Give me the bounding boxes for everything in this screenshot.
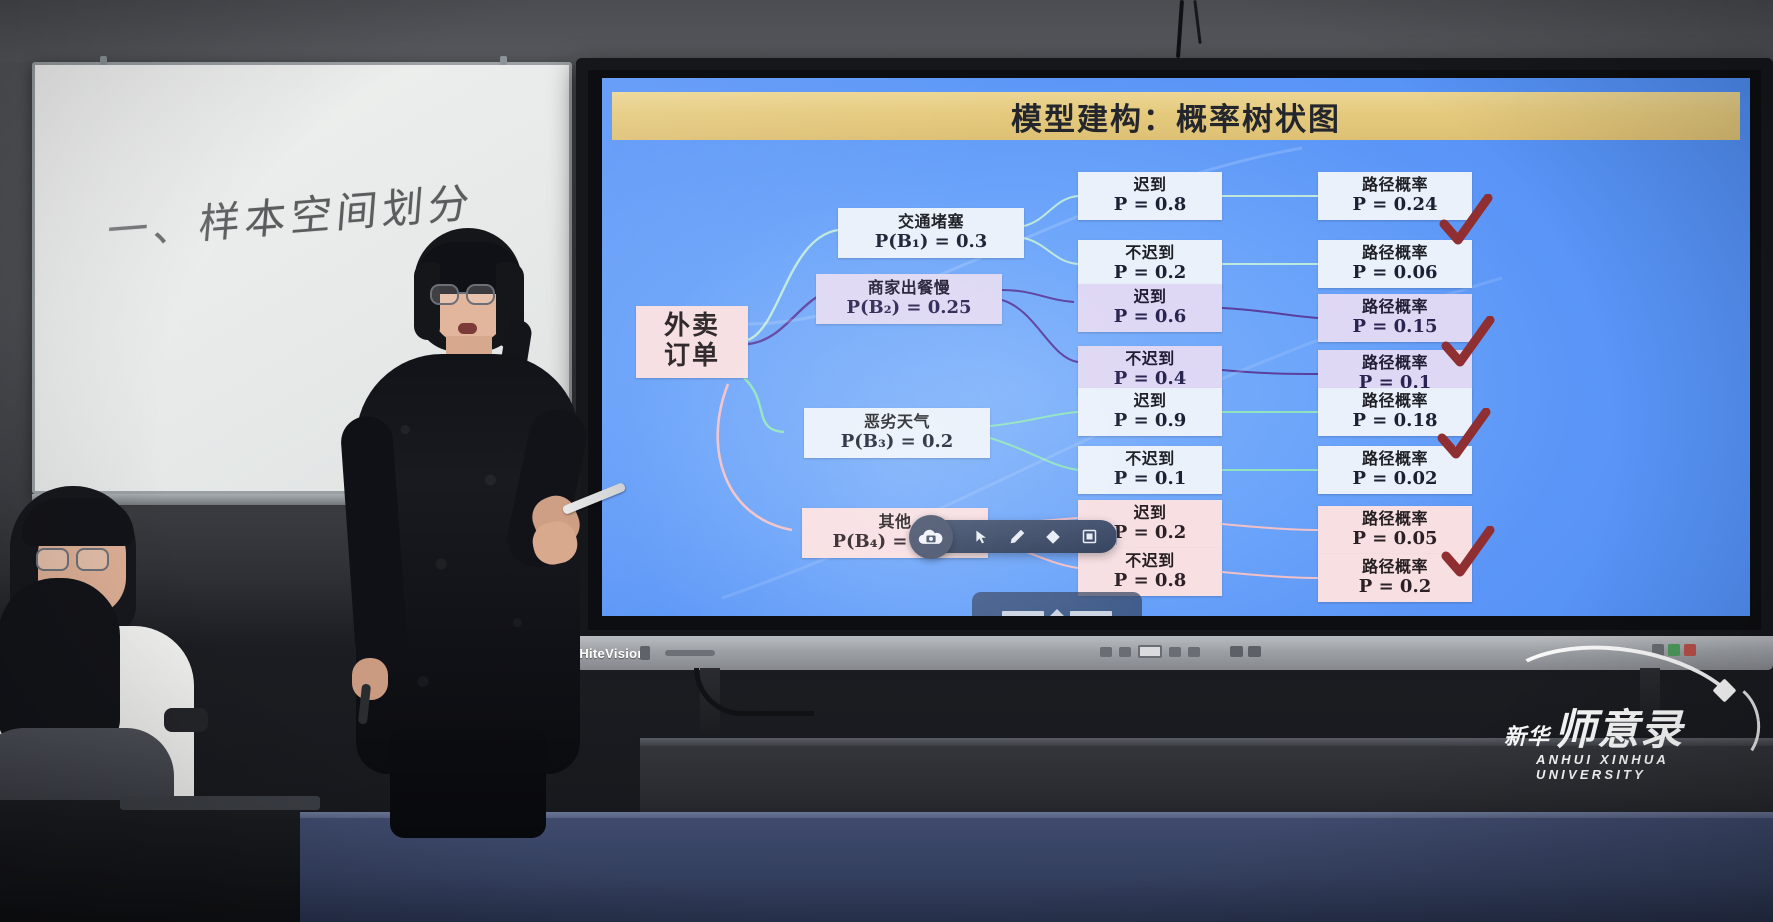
outcome-7-label: 迟到	[1133, 504, 1166, 522]
capture-icon[interactable]	[909, 515, 953, 559]
watermark-logo: 新华师意录 ANHUI XINHUA UNIVERSITY	[1494, 648, 1756, 778]
tree-node-outcome-1[interactable]: 迟到 P = 0.8	[1078, 172, 1222, 220]
outcome-5-label: 迟到	[1133, 392, 1166, 410]
teacher-mouth	[458, 323, 477, 334]
outcome-6-math: P = 0.1	[1114, 469, 1186, 490]
student-front-bangs	[22, 498, 134, 546]
control-dot-3[interactable]	[1169, 647, 1181, 657]
tree-node-path-7[interactable]: 路径概率 P = 0.05	[1318, 506, 1472, 554]
path-2-math: P = 0.06	[1353, 263, 1438, 284]
control-dot-1[interactable]	[1100, 647, 1112, 657]
outcome-7-math: P = 0.2	[1114, 523, 1186, 544]
drawer-bar-left	[1002, 611, 1044, 616]
path-7-label: 路径概率	[1362, 510, 1428, 528]
tree-node-path-3[interactable]: 路径概率 P = 0.15	[1318, 294, 1472, 342]
student-desk	[0, 800, 300, 922]
outcome-6-label: 不迟到	[1125, 450, 1175, 468]
outcome-2-math: P = 0.2	[1114, 263, 1186, 284]
tree-node-outcome-6[interactable]: 不迟到 P = 0.1	[1078, 446, 1222, 494]
cause-3-label: 恶劣天气	[864, 413, 930, 431]
outcome-8-label: 不迟到	[1125, 552, 1175, 570]
eraser-icon[interactable]	[1045, 527, 1063, 547]
student-front-glasses-left	[36, 548, 69, 571]
cause-3-math: P(B₃) = 0.2	[841, 432, 954, 453]
wall-upper-band	[0, 0, 1773, 62]
student-second-hair	[0, 578, 120, 746]
path-5-math: P = 0.18	[1353, 411, 1438, 432]
path-3-label: 路径概率	[1362, 298, 1428, 316]
tree-node-path-8[interactable]: 路径概率 P = 0.2	[1318, 554, 1472, 602]
slide-title: 模型建构：概率树状图	[1011, 94, 1341, 139]
tree-node-path-1[interactable]: 路径概率 P = 0.24	[1318, 172, 1472, 220]
display-ports	[1230, 646, 1261, 657]
path-3-math: P = 0.15	[1353, 317, 1438, 338]
cause-4-label: 其他	[878, 513, 911, 531]
path-6-label: 路径概率	[1362, 450, 1428, 468]
tree-node-outcome-5[interactable]: 迟到 P = 0.9	[1078, 388, 1222, 436]
teacher-glasses-left	[430, 284, 459, 305]
outcome-1-label: 迟到	[1133, 176, 1166, 194]
root-label-line2: 订单	[664, 342, 720, 372]
outcome-4-math: P = 0.4	[1114, 369, 1186, 390]
cause-1-math: P(B₁) = 0.3	[875, 232, 988, 253]
tree-node-outcome-4[interactable]: 不迟到 P = 0.4	[1078, 346, 1222, 394]
teacher-glasses-bridge	[459, 292, 468, 294]
drawer-handle[interactable]	[972, 592, 1142, 616]
slide: 模型建构：概率树状图	[602, 78, 1750, 616]
chevron-up-icon	[1048, 609, 1066, 616]
save-icon[interactable]	[1080, 527, 1098, 547]
port-usb-2	[1248, 646, 1261, 657]
watermark-english: ANHUI XINHUA UNIVERSITY	[1536, 752, 1756, 782]
outcome-3-label: 迟到	[1133, 288, 1166, 306]
path-2-label: 路径概率	[1362, 244, 1428, 262]
outcome-5-math: P = 0.9	[1114, 411, 1186, 432]
tree-node-outcome-2[interactable]: 不迟到 P = 0.2	[1078, 240, 1222, 288]
watermark-chinese: 新华师意录	[1504, 696, 1683, 757]
cause-2-label: 商家出餐慢	[868, 279, 951, 297]
student-desk-edge	[120, 796, 320, 810]
display-screen[interactable]: 模型建构：概率树状图	[602, 78, 1750, 616]
screenshot-root: 一、样本空间划分 模型建构：概率树状图	[0, 0, 1773, 922]
path-8-math: P = 0.2	[1359, 577, 1431, 598]
tree-node-path-5[interactable]: 路径概率 P = 0.18	[1318, 388, 1472, 436]
port-usb-1	[1230, 646, 1243, 657]
path-1-math: P = 0.24	[1353, 195, 1438, 216]
cause-1-label: 交通堵塞	[898, 213, 964, 231]
tree-node-path-2[interactable]: 路径概率 P = 0.06	[1318, 240, 1472, 288]
outcome-3-math: P = 0.6	[1114, 307, 1186, 328]
tree-node-cause-1[interactable]: 交通堵塞 P(B₁) = 0.3	[838, 208, 1024, 258]
student-front-glasses-right	[76, 548, 109, 571]
control-dot-4[interactable]	[1188, 647, 1200, 657]
teacher	[318, 228, 618, 822]
outcome-8-math: P = 0.8	[1114, 571, 1186, 592]
path-7-math: P = 0.05	[1353, 529, 1438, 550]
path-5-label: 路径概率	[1362, 392, 1428, 410]
control-dot-2[interactable]	[1119, 647, 1131, 657]
display-chin-strip	[665, 650, 715, 656]
tree-node-outcome-3[interactable]: 迟到 P = 0.6	[1078, 284, 1222, 332]
pen-icon[interactable]	[1009, 527, 1027, 547]
outcome-2-label: 不迟到	[1125, 244, 1175, 262]
path-6-math: P = 0.02	[1353, 469, 1438, 490]
watermark-brand-small: 新华	[1504, 725, 1550, 750]
outcome-4-label: 不迟到	[1125, 350, 1175, 368]
ink-toolbar[interactable]	[927, 520, 1117, 553]
watermark-brand-big: 师意录	[1554, 705, 1683, 754]
slide-title-band: 模型建构：概率树状图	[612, 92, 1740, 140]
toolbar-divider	[1116, 528, 1117, 545]
teacher-glasses-right	[466, 284, 495, 305]
path-4-label: 路径概率	[1362, 354, 1428, 372]
stool	[164, 708, 208, 732]
cause-2-math: P(B₂) = 0.25	[846, 298, 971, 319]
tree-node-cause-2[interactable]: 商家出餐慢 P(B₂) = 0.25	[816, 274, 1002, 324]
drawer-bar-right	[1070, 611, 1112, 616]
display-controls[interactable]	[1100, 645, 1200, 658]
tree-node-cause-3[interactable]: 恶劣天气 P(B₃) = 0.2	[804, 408, 990, 458]
root-label-line1: 外卖	[664, 312, 720, 342]
path-8-label: 路径概率	[1362, 558, 1428, 576]
whiteboard-mount-left	[100, 56, 107, 65]
outcome-1-math: P = 0.8	[1114, 195, 1186, 216]
student-second	[0, 578, 160, 822]
whiteboard-mount-right	[500, 56, 507, 65]
control-main-button[interactable]	[1138, 645, 1162, 658]
path-1-label: 路径概率	[1362, 176, 1428, 194]
teacher-lower-body	[390, 728, 546, 838]
tree-node-root[interactable]: 外卖 订单	[636, 306, 748, 378]
cursor-icon[interactable]	[973, 527, 991, 547]
display-power-led[interactable]	[640, 646, 650, 660]
tree-node-outcome-8[interactable]: 不迟到 P = 0.8	[1078, 548, 1222, 596]
tree-node-path-6[interactable]: 路径概率 P = 0.02	[1318, 446, 1472, 494]
